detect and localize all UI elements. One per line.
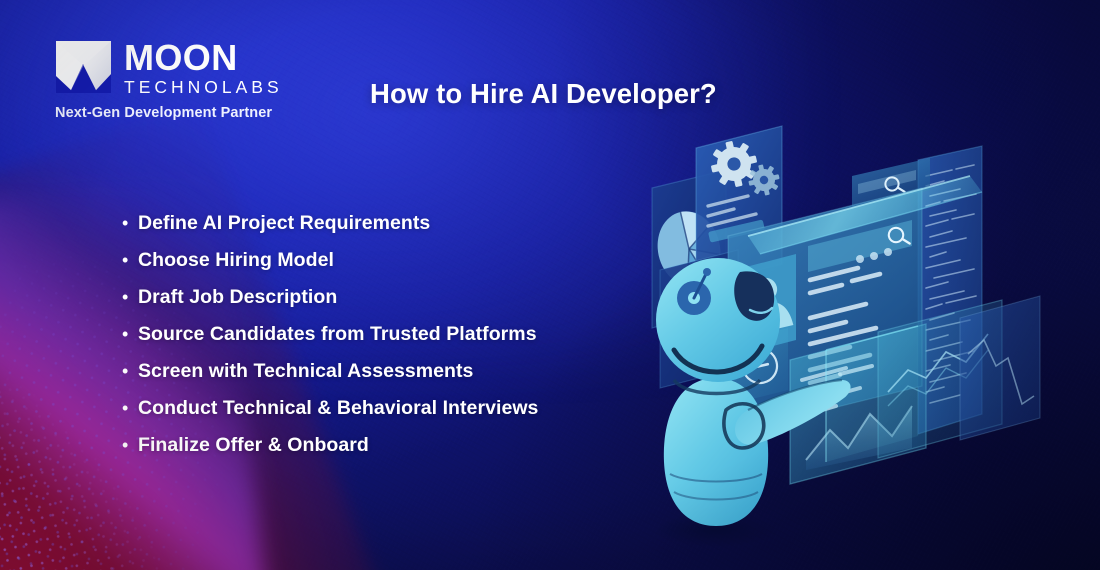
bullet-point-icon: • bbox=[122, 325, 138, 343]
list-item: • Screen with Technical Assessments bbox=[122, 360, 538, 397]
list-item: • Source Candidates from Trusted Platfor… bbox=[122, 323, 538, 360]
bullet-point-icon: • bbox=[122, 288, 138, 306]
list-item-label: Draft Job Description bbox=[138, 286, 337, 309]
bullet-point-icon: • bbox=[122, 214, 138, 232]
logo-name-secondary: TECHNOLABS bbox=[124, 78, 283, 97]
bullet-point-icon: • bbox=[122, 362, 138, 380]
list-item: • Conduct Technical & Behavioral Intervi… bbox=[122, 397, 538, 434]
list-item: • Define AI Project Requirements bbox=[122, 212, 538, 249]
page-title: How to Hire AI Developer? bbox=[370, 78, 717, 110]
infographic-canvas: MOON TECHNOLABS Next-Gen Development Par… bbox=[0, 0, 1100, 570]
moon-mountain-mark-icon bbox=[55, 40, 112, 94]
steps-list: • Define AI Project Requirements • Choos… bbox=[122, 212, 538, 471]
list-item-label: Define AI Project Requirements bbox=[138, 212, 430, 235]
list-item-label: Source Candidates from Trusted Platforms bbox=[138, 323, 537, 346]
logo-wordmark: MOON TECHNOLABS bbox=[124, 40, 283, 97]
logo-name-primary: MOON bbox=[124, 41, 283, 76]
list-item: • Finalize Offer & Onboard bbox=[122, 434, 538, 471]
list-item-label: Screen with Technical Assessments bbox=[138, 360, 473, 383]
list-item: • Draft Job Description bbox=[122, 286, 538, 323]
list-item: • Choose Hiring Model bbox=[122, 249, 538, 286]
list-item-label: Finalize Offer & Onboard bbox=[138, 434, 369, 457]
list-item-label: Choose Hiring Model bbox=[138, 249, 334, 272]
list-item-label: Conduct Technical & Behavioral Interview… bbox=[138, 397, 538, 420]
ai-robot-illustration bbox=[630, 118, 1070, 558]
bullet-point-icon: • bbox=[122, 436, 138, 454]
right-line-chart-panel-group bbox=[960, 296, 1040, 440]
bullet-point-icon: • bbox=[122, 251, 138, 269]
logo-tagline: Next-Gen Development Partner bbox=[55, 105, 272, 121]
brand-logo[interactable]: MOON TECHNOLABS Next-Gen Development Par… bbox=[55, 40, 283, 121]
logo-row: MOON TECHNOLABS bbox=[55, 40, 283, 97]
bullet-point-icon: • bbox=[122, 399, 138, 417]
